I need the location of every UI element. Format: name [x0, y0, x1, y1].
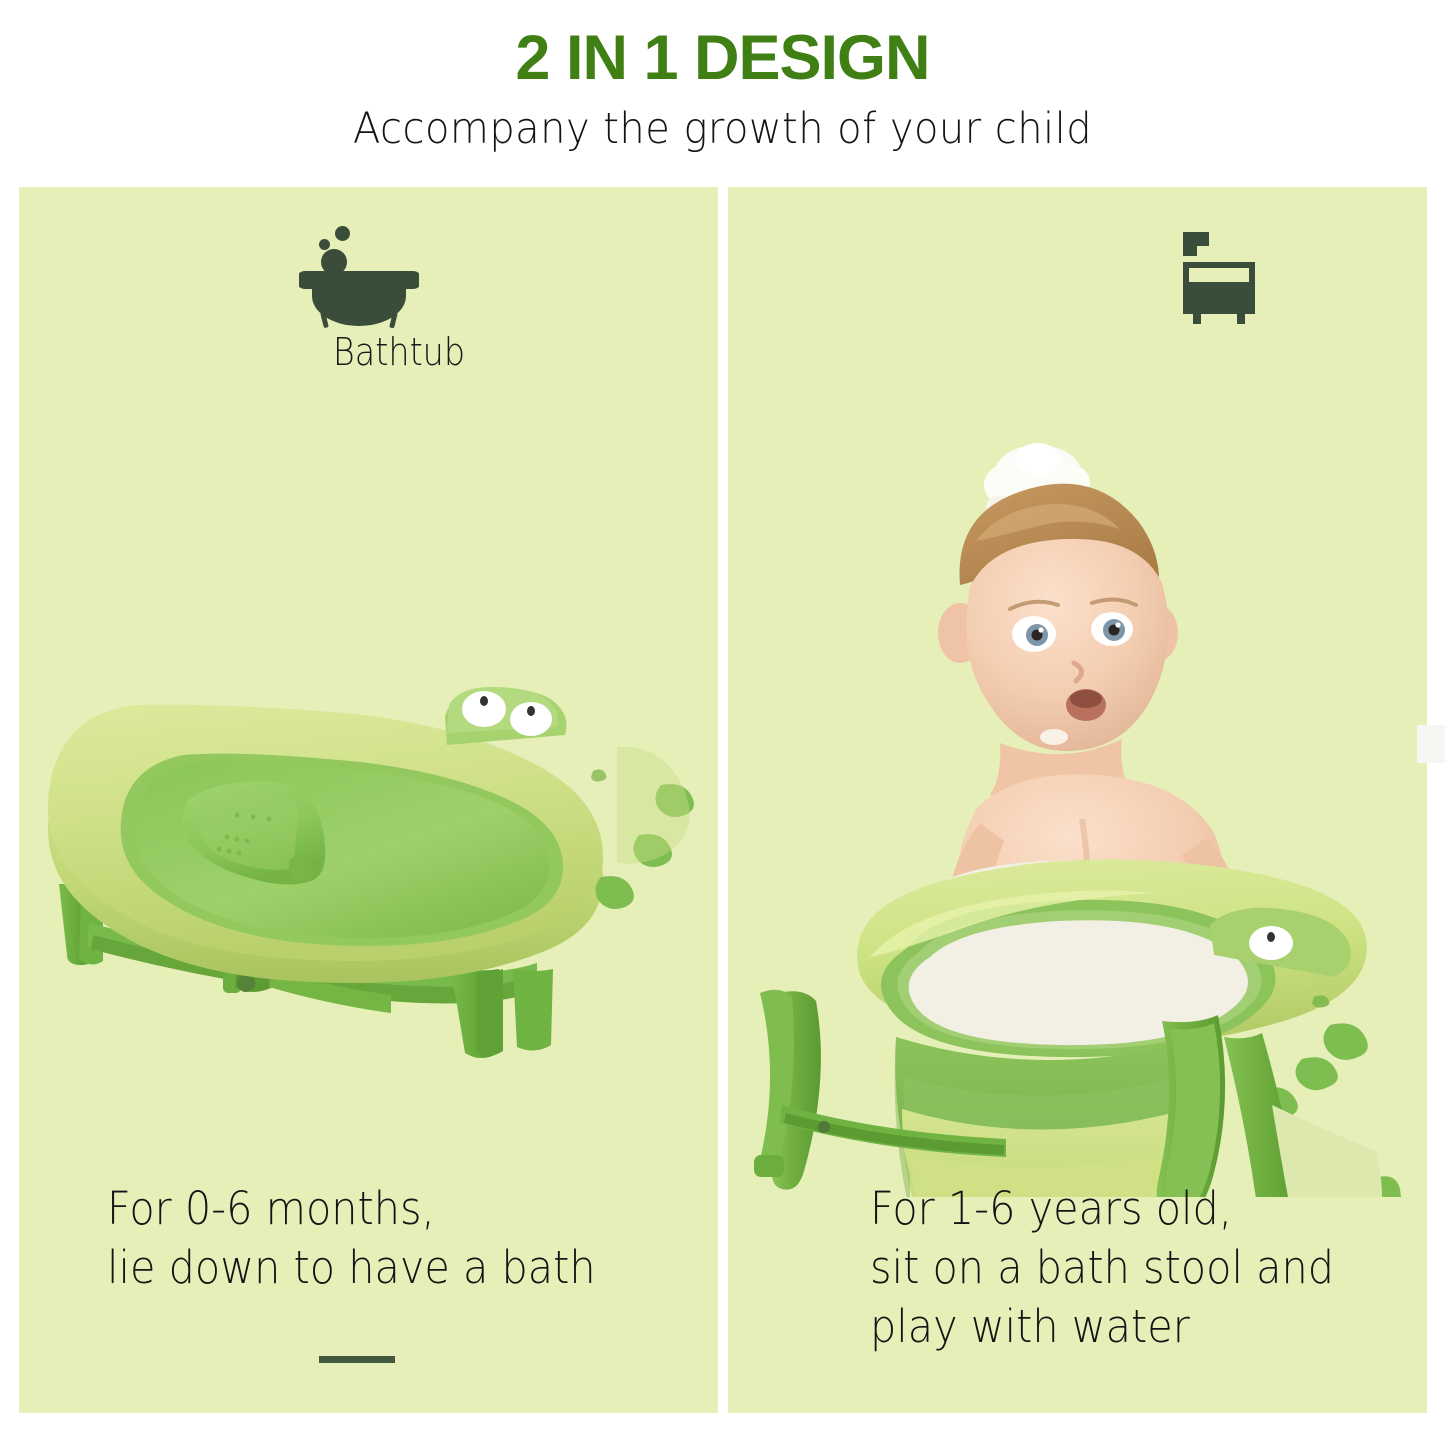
page-title: 2 IN 1 DESIGN	[0, 22, 1445, 94]
bath-bucket-icon	[1173, 232, 1265, 324]
divider-dash-left	[319, 1356, 395, 1363]
head	[966, 539, 1168, 751]
bath-bucket-icon-wrap	[1079, 220, 1359, 335]
frog-face	[445, 687, 567, 745]
tub-body	[895, 1037, 1207, 1197]
panel-bath-bucket: Bath bucket	[728, 187, 1427, 1413]
header: 2 IN 1 DESIGN Accompany the growth of yo…	[0, 0, 1445, 187]
panel-caption-bath-bucket: For 1-6 years old, sit on a bath stool a…	[870, 1179, 1334, 1356]
panel-label-bathtub: Bathtub	[276, 330, 522, 374]
page-subtitle: Accompany the growth of your child	[51, 104, 1395, 154]
frog-foot-scallops	[595, 747, 693, 909]
bathtub-icon	[299, 226, 419, 330]
bathtub-icon-wrap	[19, 220, 708, 335]
panel-bathtub: Bathtub	[19, 187, 718, 1413]
product-logo-mark	[591, 769, 606, 781]
product-image-baby-in-bath-bucket	[738, 437, 1427, 1197]
edge-artifact	[1417, 725, 1445, 763]
panel-caption-bathtub: For 0-6 months, lie down to have a bath	[107, 1179, 596, 1297]
product-image-folded-bathtub	[41, 687, 701, 1087]
